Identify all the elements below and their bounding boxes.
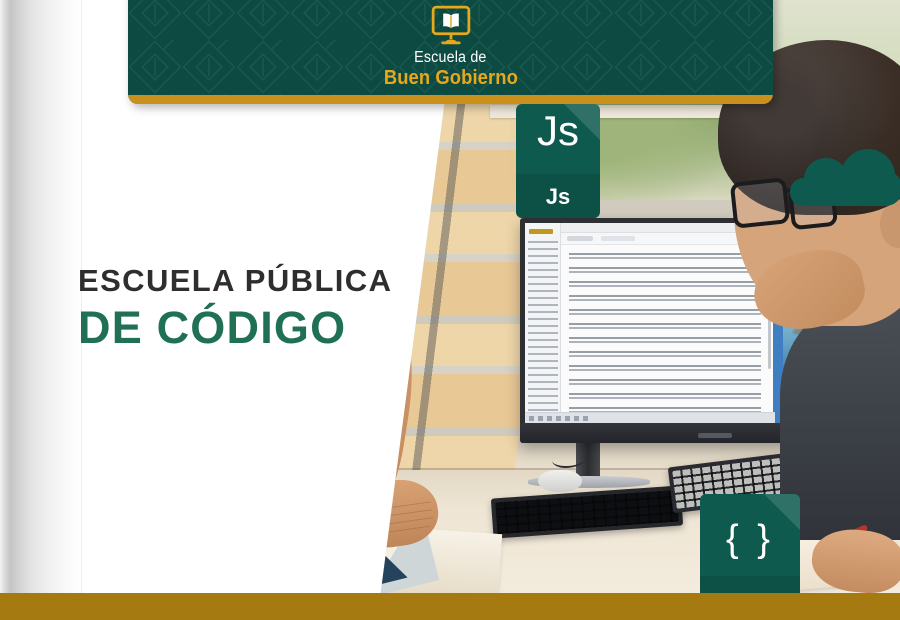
page-title: ESCUELA PÚBLICA DE CÓDIGO (78, 264, 392, 352)
glasses-lens-left (730, 177, 791, 229)
screen-document-text (569, 253, 761, 423)
computer-mouse (538, 470, 582, 492)
page-title-line2: DE CÓDIGO (78, 303, 392, 353)
screen-app-sidebar (525, 223, 561, 423)
monitor-with-open-book-icon (429, 3, 473, 47)
promo-banner: Escuela de Buen Gobierno ESCUELA PÚBLICA… (0, 0, 900, 620)
cloud-icon (790, 142, 900, 208)
page-edge-gradient (0, 0, 82, 620)
brand-name-line2: Buen Gobierno (383, 67, 517, 90)
footer-accent-bar (0, 593, 900, 620)
js-badge-glyph: Js (516, 110, 600, 152)
javascript-file-icon: Js Js (516, 104, 600, 218)
monitor-brand-logo (698, 433, 732, 438)
brand-header-card: Escuela de Buen Gobierno (128, 0, 773, 104)
screen-taskbar (525, 412, 775, 423)
screen-sidebar-items (528, 241, 558, 411)
page-title-line1: ESCUELA PÚBLICA (78, 264, 392, 299)
brand-name-line1: Escuela de (414, 49, 486, 67)
js-badge-label: Js (516, 184, 600, 210)
css-badge-glyph: { } (700, 520, 800, 558)
